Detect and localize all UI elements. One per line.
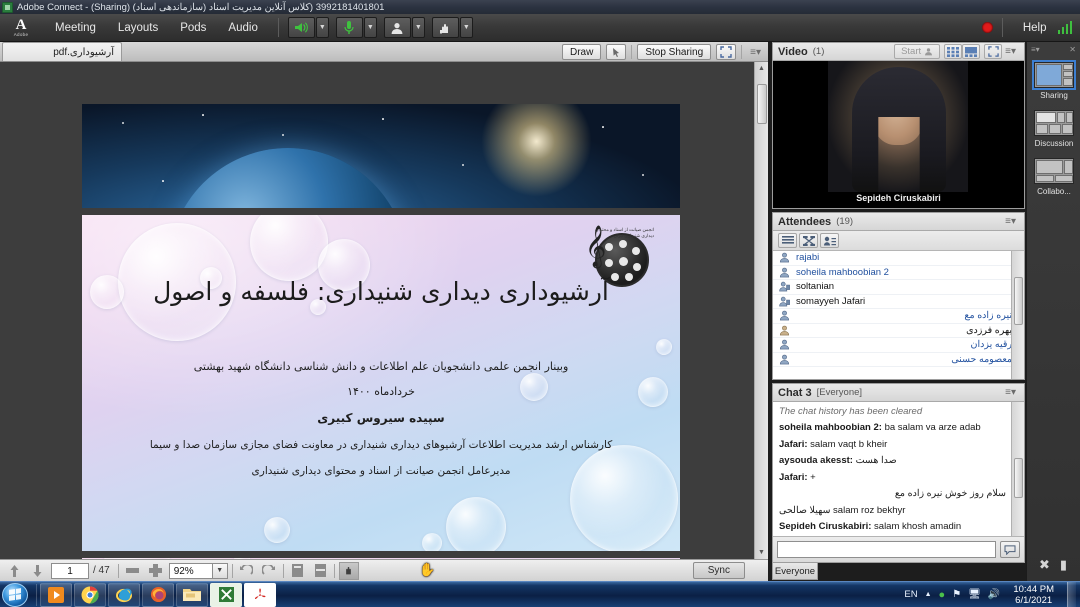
adobe-logo-icon: A Adobe — [6, 16, 36, 40]
participant-icon — [779, 354, 790, 365]
acrobat-icon — [253, 587, 267, 602]
chat-sender: Jafari: — [779, 472, 808, 483]
page-total-label: / 47 — [93, 565, 110, 576]
layout-item-collaboration[interactable]: Collabo... — [1027, 152, 1080, 200]
update-icon[interactable]: ● — [939, 589, 946, 601]
chat-sender: Jafari: — [779, 439, 808, 450]
attendees-list[interactable]: rajabi soheila mahboobian 2 soltanian so… — [773, 251, 1012, 379]
sync-button[interactable]: Sync — [693, 562, 745, 579]
sidebar-toggle-icon[interactable]: ▮ — [1060, 557, 1067, 573]
chat-target-selector[interactable]: Everyone — [772, 562, 818, 580]
participant-icon — [779, 310, 790, 321]
attendee-name: rajabi — [796, 252, 819, 263]
list-item[interactable]: معصومه حسنی — [773, 353, 1012, 368]
draw-button[interactable]: Draw — [562, 44, 601, 60]
raise-hand-button[interactable] — [432, 17, 459, 38]
pod-options-icon[interactable]: ≡▾ — [1002, 216, 1019, 227]
microphone-dropdown[interactable]: ▼ — [364, 17, 377, 38]
rotate-ccw-icon[interactable] — [237, 562, 256, 579]
pdf-divider-2 — [232, 564, 233, 578]
menu-audio[interactable]: Audio — [217, 18, 268, 38]
slide-space-banner-image — [82, 104, 680, 208]
attendee-name: soltanian — [796, 281, 834, 292]
menu-divider-right — [1002, 18, 1003, 37]
layout-label: Discussion — [1035, 139, 1074, 148]
video-stage[interactable]: Sepideh Ciruskabiri — [773, 61, 1024, 208]
zoom-select[interactable]: 92% ▼ — [169, 563, 228, 579]
flag-icon[interactable]: ⚑ — [952, 589, 961, 600]
clock-time: 10:44 PM — [1013, 584, 1054, 595]
arrow-down-icon[interactable] — [28, 562, 47, 579]
raise-hand-dropdown[interactable]: ▼ — [460, 17, 473, 38]
webcam-dropdown[interactable]: ▼ — [412, 17, 425, 38]
participant-icon — [779, 339, 790, 350]
participant-icon — [779, 267, 790, 278]
attendees-count: (19) — [836, 216, 853, 227]
chat-pod-title: Chat 3 — [778, 387, 812, 399]
media-player-icon — [48, 587, 64, 603]
window-title-text: 3992181401801 (کلاس آنلاین مدیریت اسناد … — [17, 2, 384, 13]
presentation-slide-1: 𝄞 انجمن صیانت از اسناد و محتوای دیداری ش… — [82, 215, 680, 551]
video-pod-header: Video (1) Start ≡▾ — [773, 43, 1024, 61]
video-speaker-name: Sepideh Ciruskabiri — [773, 193, 1024, 203]
network-icon[interactable]: 🖥 — [968, 589, 981, 600]
menu-divider — [278, 18, 279, 37]
menu-pods[interactable]: Pods — [169, 18, 217, 38]
participant-icon — [779, 325, 790, 336]
webcam-feed — [828, 61, 968, 192]
chevron-up-icon[interactable]: ▲ — [925, 591, 932, 598]
layout-label: Sharing — [1040, 91, 1068, 100]
participant-icon — [779, 252, 790, 263]
taskbar-explorer[interactable] — [176, 583, 208, 607]
chat-input[interactable] — [777, 541, 996, 558]
attendees-pod-title: Attendees — [778, 216, 831, 228]
pointer-hand-icon[interactable] — [606, 44, 626, 60]
chat-text: ba salam va arze adab — [885, 422, 981, 433]
association-logo-caption: انجمن صیانت از اسناد و محتوای دیداری شنی… — [584, 227, 654, 239]
chat-send-icon[interactable] — [1000, 541, 1020, 558]
layout-item-sharing[interactable]: Sharing — [1027, 56, 1080, 104]
layout-label: Collabo... — [1037, 187, 1071, 196]
chat-scope-label: [Everyone] — [817, 387, 862, 398]
stop-sharing-button[interactable]: Stop Sharing — [637, 44, 711, 60]
mouse-cursor-hand-icon: ✋ — [419, 563, 435, 576]
chat-pod-header: Chat 3 [Everyone] ≡▾ — [773, 384, 1024, 402]
adobe-wordmark: Adobe — [14, 32, 29, 37]
windows-taskbar: EN ▲ ● ⚑ 🖥 🔊 10:44 PM 6/1/2021 — [0, 581, 1080, 607]
firefox-icon — [150, 586, 167, 603]
person-camera-icon — [390, 21, 404, 35]
filmstrip-layout-icon[interactable] — [962, 44, 980, 59]
list-item[interactable]: رقیه یزدان — [773, 338, 1012, 353]
start-label: Start — [901, 46, 921, 57]
slide-presenter-role-1: کارشناس ارشد مدیریت اطلاعات آرشیوهای دید… — [82, 439, 680, 451]
list-view-icon[interactable] — [778, 233, 797, 248]
video-pod-title: Video — [778, 46, 808, 58]
pod-options-icon[interactable]: ≡▾ — [1031, 45, 1040, 54]
taskbar-media-player[interactable] — [40, 583, 72, 607]
taskbar-chrome[interactable] — [74, 583, 106, 607]
attendees-pod-header: Attendees (19) ≡▾ — [773, 213, 1024, 231]
video-pod-count: (1) — [813, 46, 825, 57]
layout-thumbnail[interactable] — [1034, 110, 1074, 136]
layout-bar-header: ≡▾ ✕ — [1027, 42, 1080, 56]
chat-message: Sepideh Ciruskabiri: salam khosh amadin — [779, 521, 1006, 532]
webcam-button[interactable] — [384, 17, 411, 38]
arrow-up-icon[interactable] — [5, 562, 24, 579]
close-icon[interactable]: ✕ — [1069, 45, 1076, 54]
window-title-bar: 3992181401801 (کلاس آنلاین مدیریت اسناد … — [0, 0, 1080, 14]
clock-date: 6/1/2021 — [1013, 595, 1054, 606]
chat-message: soheila mahboobian 2: ba salam va arze a… — [779, 422, 1006, 433]
expand-collapse-icon[interactable]: ✖ — [1039, 557, 1050, 573]
windows-start-button[interactable] — [2, 583, 28, 607]
chevron-down-icon[interactable]: ▼ — [213, 563, 228, 579]
chat-sender: soheila mahboobian 2: — [779, 422, 882, 433]
list-item[interactable]: rajabi — [773, 251, 1012, 266]
speaker-icon — [293, 21, 309, 34]
chrome-icon — [81, 586, 99, 604]
chat-message: سلام روز خوش نیره زاده مع — [779, 488, 1006, 499]
chat-scrollbar[interactable] — [1011, 402, 1024, 536]
taskbar-app[interactable] — [210, 583, 242, 607]
chat-message-list[interactable]: The chat history has been cleared soheil… — [773, 402, 1012, 536]
layout-thumbnail[interactable] — [1034, 62, 1074, 88]
scroll-down-icon[interactable]: ▼ — [758, 549, 765, 556]
chat-text: salam vaqt b kheir — [810, 439, 887, 450]
toolbar-divider-2 — [741, 45, 742, 59]
planet-graphic — [168, 148, 408, 208]
menu-meeting[interactable]: Meeting — [44, 18, 107, 38]
taskbar-divider — [36, 584, 37, 606]
chat-text: صدا هست — [856, 455, 897, 466]
video-pod: Video (1) Start ≡▾ — [772, 42, 1025, 209]
app-icon — [219, 587, 234, 602]
rotate-cw-icon[interactable] — [260, 562, 279, 579]
attendee-status-icon[interactable] — [820, 233, 839, 248]
chat-text: سلام روز خوش نیره زاده مع — [895, 488, 1006, 499]
adobe-a-glyph: A — [16, 19, 27, 32]
page-fit-icon[interactable] — [288, 562, 307, 579]
zoom-value[interactable]: 92% — [169, 563, 213, 579]
pod-options-icon[interactable]: ≡▾ — [1002, 46, 1019, 57]
slide-title: آرشیوداری دیداری شنیداری: فلسفه و اصول — [82, 277, 680, 306]
chat-text: salam khosh amadin — [874, 521, 961, 532]
attendee-name: نیره زاده مع — [796, 310, 1012, 321]
language-indicator[interactable]: EN — [904, 589, 917, 600]
menu-help[interactable]: Help — [1012, 18, 1058, 38]
attendee-name: soheila mahboobian 2 — [796, 267, 889, 278]
file-explorer-icon — [183, 587, 201, 602]
scrollbar-thumb[interactable] — [1014, 458, 1023, 498]
microphone-button[interactable] — [336, 17, 363, 38]
chat-pod: Chat 3 [Everyone] ≡▾ The chat history ha… — [772, 383, 1025, 563]
internet-explorer-icon — [115, 587, 133, 603]
list-item[interactable]: soltanian — [773, 280, 1012, 295]
slide-presenter-name: سپیده سیروس کبیری — [82, 411, 680, 425]
pdf-divider-4 — [334, 564, 335, 578]
windows-logo-icon — [9, 588, 21, 601]
app-bottom-icons: ✖ ▮ — [1026, 548, 1080, 581]
plus-icon[interactable] — [146, 562, 165, 579]
attendees-scrollbar[interactable] — [1011, 251, 1024, 379]
layout-thumbnail[interactable] — [1034, 158, 1074, 184]
chat-cleared-notice: The chat history has been cleared — [779, 406, 1006, 417]
taskbar-firefox[interactable] — [142, 583, 174, 607]
raise-hand-icon — [438, 21, 452, 35]
list-item[interactable]: soheila mahboobian 2 — [773, 266, 1012, 281]
microphone-icon — [343, 20, 355, 35]
document-scrollbar[interactable]: ▲ ▼ — [754, 62, 768, 559]
pod-options-icon[interactable]: ≡▾ — [747, 47, 764, 58]
chat-sender: aysouda akesst: — [779, 455, 853, 466]
fullscreen-icon[interactable] — [716, 44, 736, 60]
list-item[interactable]: بهره فرزدی — [773, 324, 1012, 339]
camera-person-icon — [924, 47, 933, 56]
scrollbar-thumb[interactable] — [757, 84, 767, 124]
toolbar-divider — [631, 45, 632, 59]
pdf-navigation-toolbar: 1 / 47 92% ▼ — [0, 559, 768, 581]
menu-layouts[interactable]: Layouts — [107, 18, 169, 38]
start-webcam-button[interactable]: Start — [894, 44, 940, 59]
application-menu-bar: A Adobe Meeting Layouts Pods Audio ▼ ▼ — [0, 14, 1080, 42]
system-tray: EN ▲ ● ⚑ 🖥 🔊 10:44 PM 6/1/2021 — [904, 582, 1080, 607]
list-item[interactable]: somayyeh Jafari — [773, 295, 1012, 310]
scrollbar-thumb[interactable] — [1014, 277, 1023, 325]
presenter-icon — [779, 281, 790, 292]
document-tab[interactable]: آرشیوداری.pdf — [2, 42, 122, 61]
chat-text: سهیلا صالحی salam roz bekhyr — [779, 505, 905, 516]
chat-message: Jafari: salam vaqt b kheir — [779, 439, 1006, 450]
chat-text: + — [810, 472, 816, 483]
attendee-name: somayyeh Jafari — [796, 296, 865, 307]
chat-message: سهیلا صالحی salam roz bekhyr — [779, 505, 1006, 516]
connection-status-icon[interactable] — [1058, 21, 1073, 34]
chat-input-row — [773, 536, 1024, 562]
recording-indicator-icon[interactable] — [982, 22, 993, 33]
attendee-name: معصومه حسنی — [796, 354, 1012, 365]
page-number-input[interactable]: 1 — [51, 563, 89, 579]
attendee-name: بهره فرزدی — [796, 325, 1012, 336]
chat-sender: Sepideh Ciruskabiri: — [779, 521, 871, 532]
share-pod: آرشیوداری.pdf Draw Stop Sharing ≡▾ — [0, 42, 768, 581]
attendee-name: رقیه یزدان — [796, 339, 1012, 350]
connect-app-icon — [2, 2, 13, 13]
chat-message: aysouda akesst: صدا هست — [779, 455, 1006, 466]
show-desktop-button[interactable] — [1067, 582, 1076, 607]
breakout-icon[interactable] — [799, 233, 818, 248]
attendees-toolbar — [773, 231, 1024, 251]
speaker-dropdown[interactable]: ▼ — [316, 17, 329, 38]
adobe-connect-window: 3992181401801 (کلاس آنلاین مدیریت اسناد … — [0, 0, 1080, 607]
list-item[interactable]: نیره زاده مع — [773, 309, 1012, 324]
attendees-pod: Attendees (19) ≡▾ rajabi — [772, 212, 1025, 380]
layout-bar: ≡▾ ✕ Sharing Discussion — [1026, 42, 1080, 581]
pod-options-icon[interactable]: ≡▾ — [1002, 387, 1019, 398]
presenter-icon — [779, 296, 790, 307]
grid-layout-icon[interactable] — [944, 44, 962, 59]
taskbar-clock[interactable]: 10:44 PM 6/1/2021 — [1007, 584, 1060, 606]
taskbar-internet-explorer[interactable] — [108, 583, 140, 607]
minus-icon[interactable] — [123, 562, 142, 579]
shared-document-viewport[interactable]: 𝄞 انجمن صیانت از اسناد و محتوای دیداری ش… — [0, 62, 768, 559]
slide-date-line: خردادماه ۱۴۰۰ — [82, 385, 680, 398]
layout-item-discussion[interactable]: Discussion — [1027, 104, 1080, 152]
volume-icon[interactable]: 🔊 — [988, 589, 1000, 600]
speaker-button[interactable] — [288, 17, 315, 38]
taskbar-acrobat[interactable] — [244, 583, 276, 607]
share-pod-tab-bar: آرشیوداری.pdf Draw Stop Sharing ≡▾ — [0, 42, 768, 62]
fullscreen-icon[interactable] — [984, 44, 1002, 59]
chat-message: Jafari: + — [779, 472, 1006, 483]
share-pod-toolbar: Draw Stop Sharing ≡▾ — [562, 43, 764, 61]
pan-hand-icon[interactable] — [339, 562, 359, 580]
pdf-divider-1 — [118, 564, 119, 578]
scroll-up-icon[interactable]: ▲ — [758, 65, 765, 72]
slide-subtitle-line-1: وبینار انجمن علمی دانشجویان علم اطلاعات … — [82, 360, 680, 373]
slide-presenter-role-2: مدیرعامل انجمن صیانت از اسناد و محتوای د… — [82, 465, 680, 477]
page-width-icon[interactable] — [311, 562, 330, 579]
pdf-divider-3 — [283, 564, 284, 578]
